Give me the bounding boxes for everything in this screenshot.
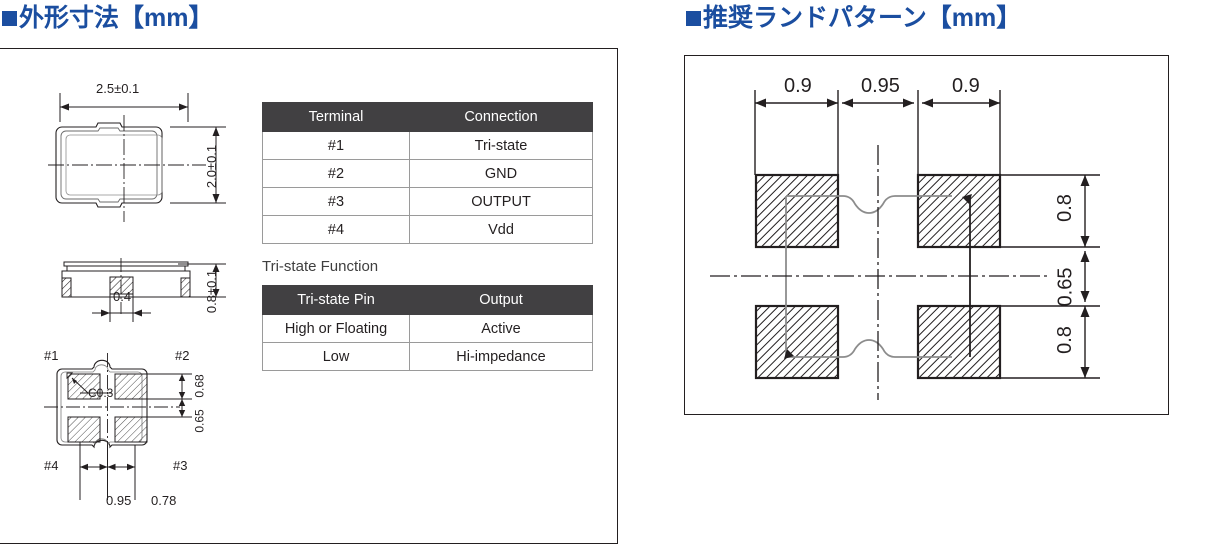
table-row: #3 OUTPUT	[263, 188, 593, 216]
side-view-pad-dim: 0.4	[113, 290, 131, 303]
side-view-height-dim: 0.8±0.1	[205, 270, 218, 313]
connection-cell: OUTPUT	[410, 188, 593, 216]
bottom-view-dim-068: 0.68	[194, 374, 206, 397]
package-top-view-drawing	[30, 60, 260, 240]
terminal-col-header: Terminal	[263, 103, 410, 132]
package-bottom-view-drawing	[30, 345, 260, 520]
table-header-row: Tri-state Pin Output	[263, 286, 593, 315]
output-col-header: Output	[410, 286, 593, 315]
connection-cell: Vdd	[410, 216, 593, 244]
connection-cell: GND	[410, 160, 593, 188]
land-dim-v2: 0.65	[1055, 268, 1075, 307]
land-pattern-drawing	[700, 70, 1160, 400]
blue-square-marker	[2, 11, 17, 26]
land-dim-h2: 0.95	[861, 76, 900, 96]
table-row: #1 Tri-state	[263, 132, 593, 160]
pin-label-2: #2	[175, 348, 189, 363]
table-row: Low Hi-impedance	[263, 343, 593, 371]
terminal-cell: #1	[263, 132, 410, 160]
tristate-pin-cell: Low	[263, 343, 410, 371]
tristate-pin-cell: High or Floating	[263, 315, 410, 343]
tristate-pin-col-header: Tri-state Pin	[263, 286, 410, 315]
table-row: #4 Vdd	[263, 216, 593, 244]
outline-dimensions-header: 外形寸法【mm】	[2, 6, 213, 31]
land-pattern-header: 推奨ランドパターン【mm】	[686, 6, 1021, 31]
bottom-view-dim-065: 0.65	[194, 409, 206, 432]
output-cell: Hi-impedance	[410, 343, 593, 371]
left-header-title: 外形寸法【mm】	[19, 6, 213, 31]
output-cell: Active	[410, 315, 593, 343]
chamfer-dim: C0.3	[88, 387, 113, 399]
package-side-view-drawing	[30, 250, 260, 350]
terminal-cell: #4	[263, 216, 410, 244]
tristate-function-table: Tri-state Pin Output High or Floating Ac…	[262, 285, 593, 371]
blue-square-marker	[686, 11, 701, 26]
table-header-row: Terminal Connection	[263, 103, 593, 132]
bottom-view-dim-078: 0.78	[151, 494, 176, 507]
pin-label-3: #3	[173, 458, 187, 473]
terminal-connection-table: Terminal Connection #1 Tri-state #2 GND …	[262, 102, 593, 244]
connection-cell: Tri-state	[410, 132, 593, 160]
land-dim-h3: 0.9	[952, 76, 980, 96]
land-dim-v1: 0.8	[1055, 194, 1075, 222]
top-view-width-dim: 2.5±0.1	[96, 82, 139, 95]
connection-col-header: Connection	[410, 103, 593, 132]
land-dim-h1: 0.9	[784, 76, 812, 96]
tristate-function-caption: Tri-state Function	[262, 258, 378, 275]
terminal-cell: #3	[263, 188, 410, 216]
right-header-title: 推奨ランドパターン【mm】	[703, 6, 1021, 31]
terminal-cell: #2	[263, 160, 410, 188]
table-row: #2 GND	[263, 160, 593, 188]
pin-label-4: #4	[44, 458, 58, 473]
table-row: High or Floating Active	[263, 315, 593, 343]
top-view-height-dim: 2.0±0.1	[205, 145, 218, 188]
pin-label-1: #1	[44, 348, 58, 363]
bottom-view-dim-095: 0.95	[106, 494, 131, 507]
land-dim-v3: 0.8	[1055, 326, 1075, 354]
